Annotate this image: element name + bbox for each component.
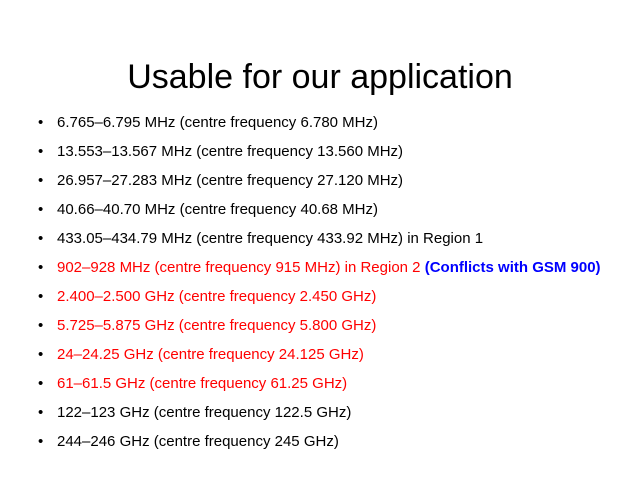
list-item-label: 5.725–5.875 GHz (centre frequency 5.800 … [57,317,376,334]
list-item-label: 433.05–434.79 MHz (centre frequency 433.… [57,230,483,247]
list-item-label: 902–928 MHz (centre frequency 915 MHz) i… [57,259,425,276]
bullet-point-icon: • [38,253,48,282]
bullet-point-icon: • [38,166,48,195]
bullet-point-icon: • [38,369,48,398]
list-item-label: 24–24.25 GHz (centre frequency 24.125 GH… [57,346,364,363]
bullet-point-icon: • [38,311,48,340]
bullet-point-icon: • [38,282,48,311]
list-item: • 433.05–434.79 MHz (centre frequency 43… [33,224,633,253]
list-item-label: 122–123 GHz (centre frequency 122.5 GHz) [57,404,351,421]
list-item-label: 61–61.5 GHz (centre frequency 61.25 GHz) [57,375,347,392]
list-item-label: 13.553–13.567 MHz (centre frequency 13.5… [57,143,403,160]
list-item: • 61–61.5 GHz (centre frequency 61.25 GH… [33,369,633,398]
bullet-point-icon: • [38,195,48,224]
list-item-label: 6.765–6.795 MHz (centre frequency 6.780 … [57,114,378,131]
bullet-point-icon: • [38,224,48,253]
bullet-point-icon: • [38,108,48,137]
conflict-note-label: (Conflicts with GSM 900) [425,259,601,276]
page-title: Usable for our application [0,57,640,97]
list-item: • 5.725–5.875 GHz (centre frequency 5.80… [33,311,633,340]
list-item: • 26.957–27.283 MHz (centre frequency 27… [33,166,633,195]
list-item: • 6.765–6.795 MHz (centre frequency 6.78… [33,108,633,137]
list-item: • 24–24.25 GHz (centre frequency 24.125 … [33,340,633,369]
bullet-point-icon: • [38,340,48,369]
list-item-label: 26.957–27.283 MHz (centre frequency 27.1… [57,172,403,189]
list-item: • 122–123 GHz (centre frequency 122.5 GH… [33,398,633,427]
list-item: • 2.400–2.500 GHz (centre frequency 2.45… [33,282,633,311]
frequency-bullet-list: • 6.765–6.795 MHz (centre frequency 6.78… [33,108,633,456]
list-item: • 40.66–40.70 MHz (centre frequency 40.6… [33,195,633,224]
bullet-point-icon: • [38,137,48,166]
list-item: • 902–928 MHz (centre frequency 915 MHz)… [33,253,633,282]
bullet-point-icon: • [38,427,48,456]
list-item: • 244–246 GHz (centre frequency 245 GHz) [33,427,633,456]
list-item-label: 40.66–40.70 MHz (centre frequency 40.68 … [57,201,378,218]
list-item-label: 2.400–2.500 GHz (centre frequency 2.450 … [57,288,376,305]
list-item-label: 244–246 GHz (centre frequency 245 GHz) [57,433,339,450]
slide-canvas: Usable for our application • 6.765–6.795… [0,0,640,480]
bullet-point-icon: • [38,398,48,427]
list-item: • 13.553–13.567 MHz (centre frequency 13… [33,137,633,166]
